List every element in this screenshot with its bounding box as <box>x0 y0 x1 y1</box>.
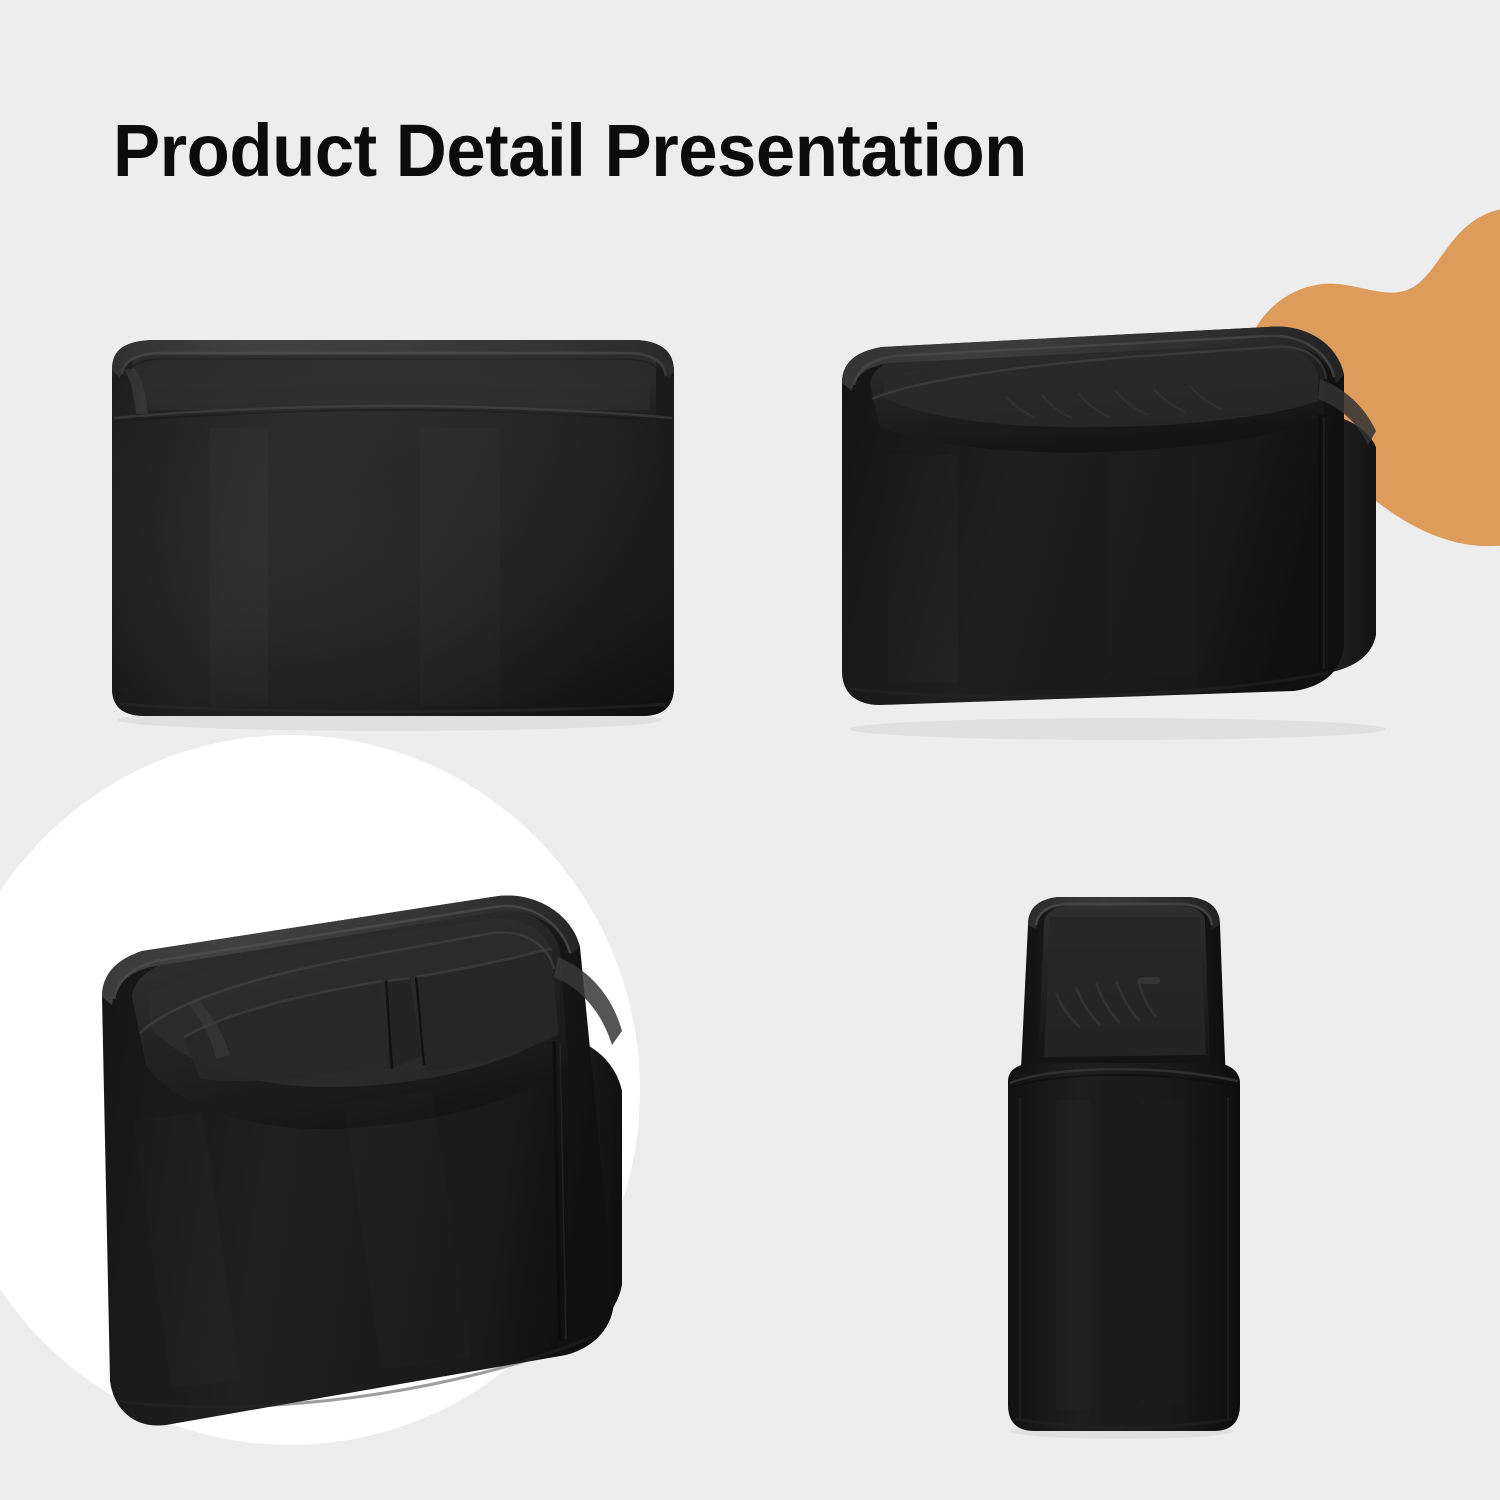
bag-organizer-front-view <box>90 318 690 733</box>
bag-organizer-interior-view <box>92 885 702 1445</box>
product-presentation-canvas: Product Detail Presentation <box>0 0 1500 1500</box>
bag-organizer-side-view <box>990 885 1255 1445</box>
bag-organizer-angled-view <box>828 305 1423 745</box>
page-title: Product Detail Presentation <box>113 112 1027 190</box>
